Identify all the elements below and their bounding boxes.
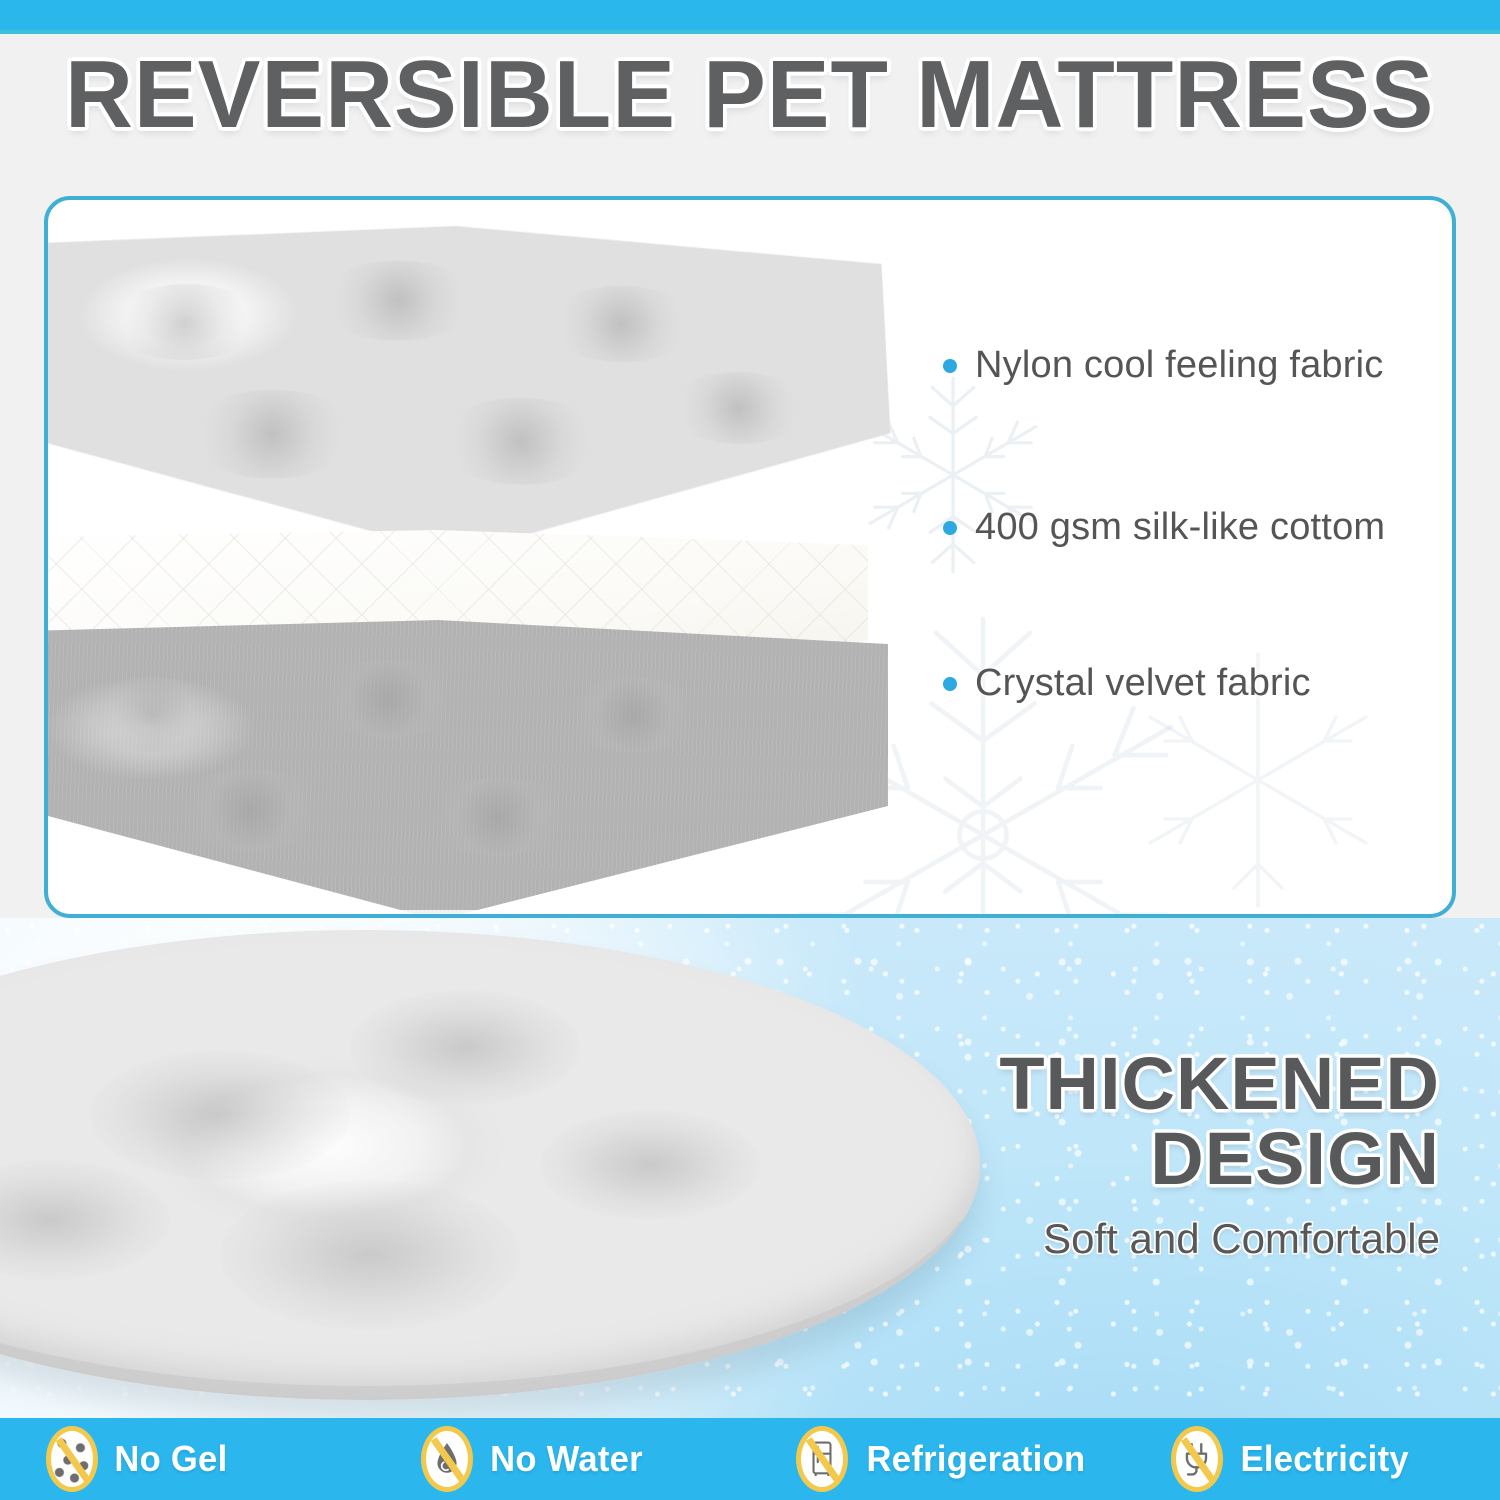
top-accent-bar <box>0 0 1500 34</box>
bullet-label: Nylon cool feeling fabric <box>975 344 1383 387</box>
velvet-nap-texture <box>44 620 888 918</box>
bullet-dot-icon <box>943 359 957 373</box>
bullet-label: 400 gsm silk-like cottom <box>975 506 1385 549</box>
page-title-text: REVERSIBLE PET MATTRESS <box>65 44 1434 146</box>
feature-bullet-list: Nylon cool feeling fabric 400 gsm silk-l… <box>943 200 1456 918</box>
feature-label: Electricity <box>1241 1438 1409 1480</box>
no-electricity-icon <box>1171 1426 1223 1492</box>
exploded-layer-illustration <box>48 200 928 918</box>
list-item: Nylon cool feeling fabric <box>943 344 1383 387</box>
feature-bar: No Gel No Water <box>0 1418 1500 1500</box>
feature-item-no-refrigeration: Refrigeration <box>750 1426 1125 1492</box>
bullet-dot-icon <box>943 521 957 535</box>
thickened-subtitle: Soft and Comfortable <box>960 1215 1440 1263</box>
list-item: 400 gsm silk-like cottom <box>943 506 1385 549</box>
list-item: Crystal velvet fabric <box>943 662 1311 705</box>
feature-item-no-electricity: Electricity <box>1125 1426 1500 1492</box>
page-title: REVERSIBLE PET MATTRESS <box>0 44 1500 146</box>
feature-item-no-water: No Water <box>375 1426 750 1492</box>
product-infographic: REVERSIBLE PET MATTRESS <box>0 0 1500 1500</box>
feature-label: No Gel <box>114 1438 227 1480</box>
bullet-dot-icon <box>943 677 957 691</box>
feature-label: Refrigeration <box>867 1438 1086 1480</box>
thickened-line-2: DESIGN <box>960 1121 1440 1196</box>
thickened-line-1: THICKENED <box>960 1046 1440 1121</box>
bullet-label: Crystal velvet fabric <box>975 662 1311 705</box>
feature-item-no-gel: No Gel <box>0 1426 375 1492</box>
no-refrigeration-icon <box>796 1426 848 1492</box>
nylon-top-layer <box>44 226 897 554</box>
no-gel-icon <box>46 1426 98 1492</box>
thickened-design-callout: THICKENED DESIGN Soft and Comfortable <box>960 1046 1440 1263</box>
feature-label: No Water <box>490 1438 643 1480</box>
velvet-base-layer <box>44 620 888 918</box>
no-water-icon <box>421 1426 473 1492</box>
layers-panel: Nylon cool feeling fabric 400 gsm silk-l… <box>44 196 1456 918</box>
